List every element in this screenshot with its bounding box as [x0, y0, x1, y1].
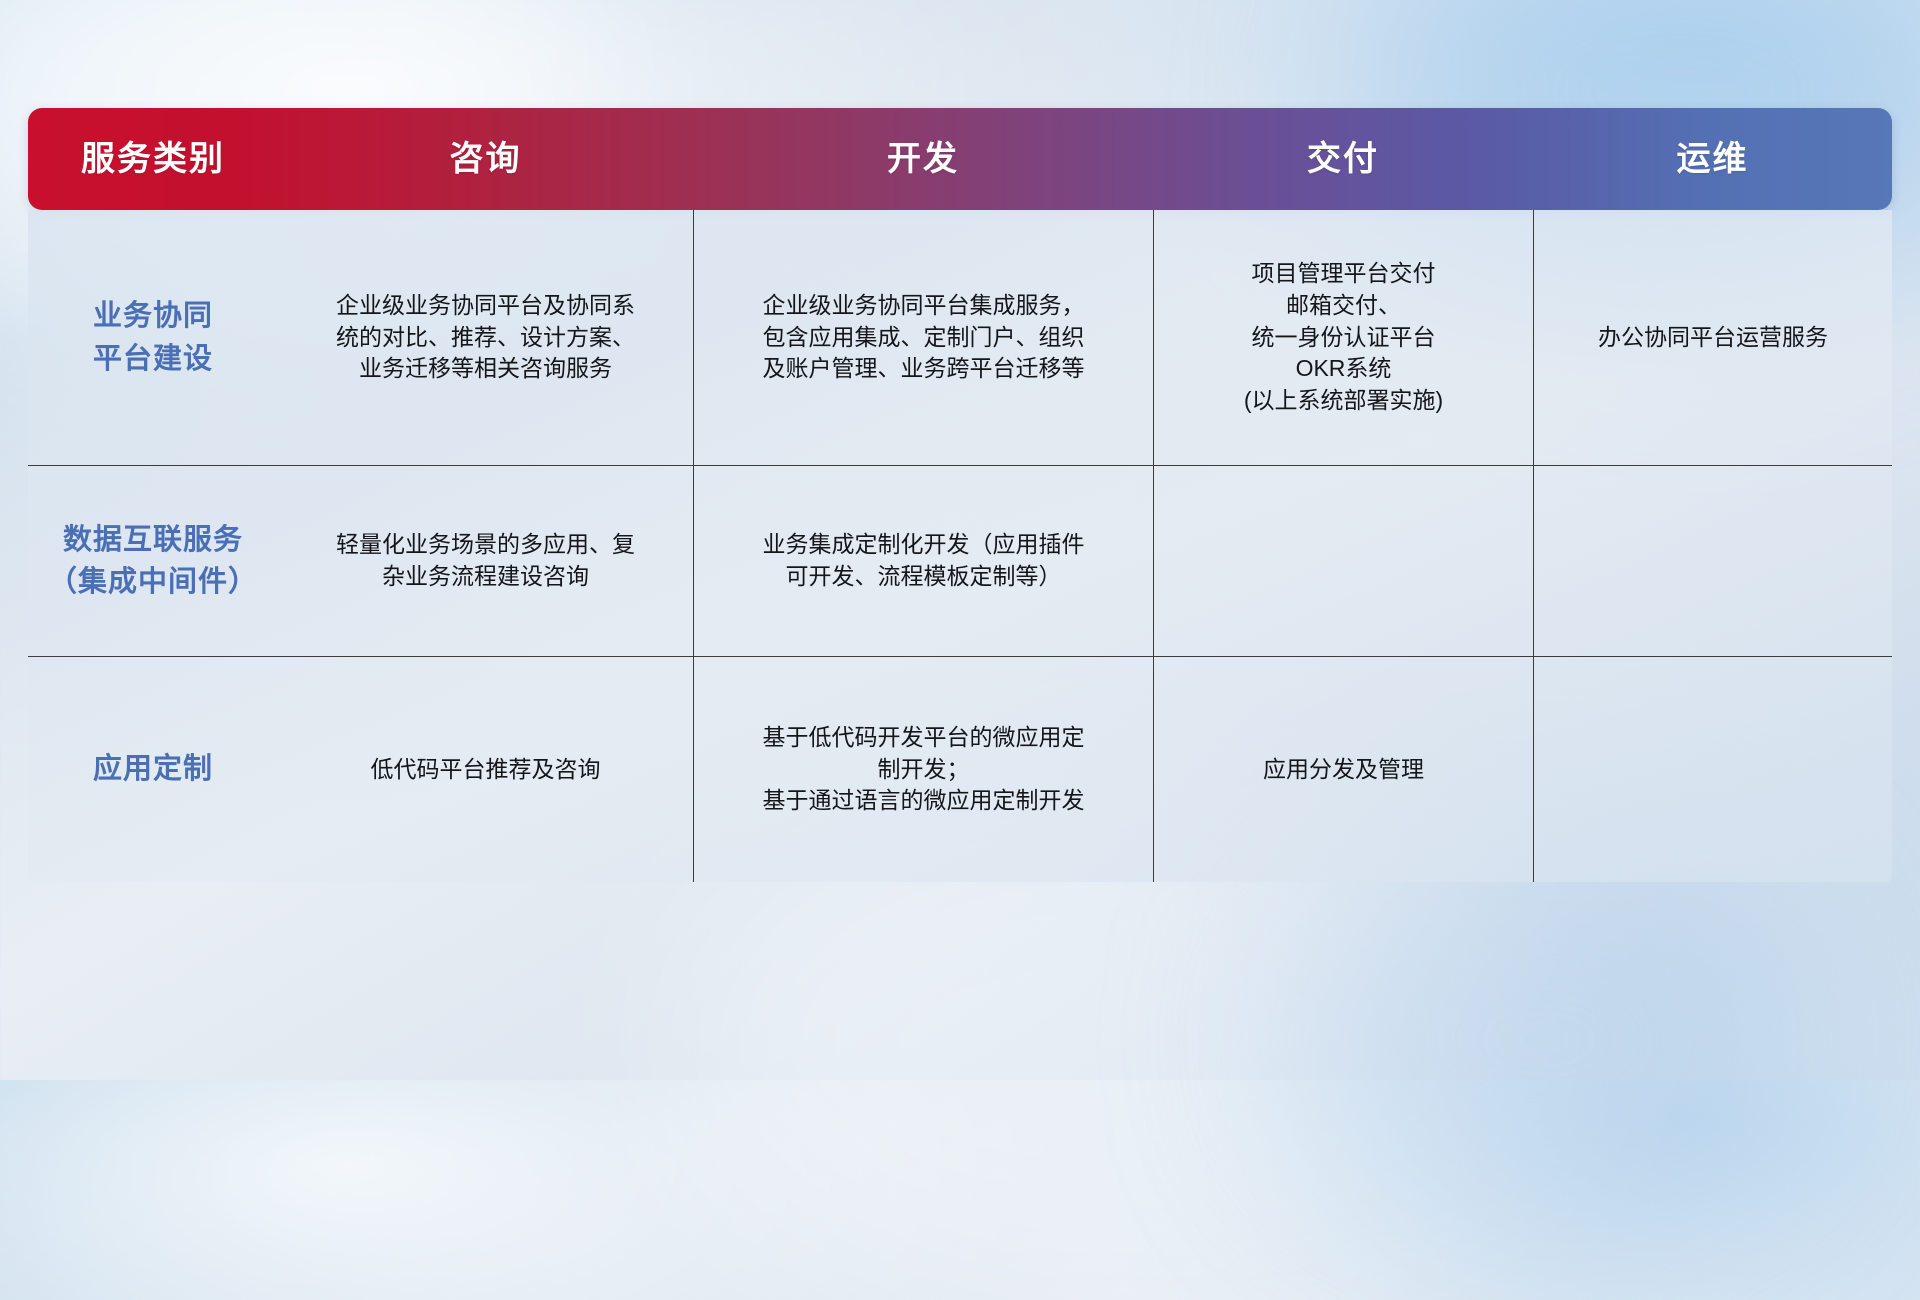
cell-development: 基于低代码开发平台的微应用定 制开发； 基于通过语言的微应用定制开发: [693, 657, 1153, 882]
cell-operations: [1533, 466, 1892, 656]
table-body: 业务协同 平台建设 企业级业务协同平台及协同系 统的对比、推荐、设计方案、 业务…: [28, 210, 1892, 882]
column-header-development: 开发: [693, 142, 1153, 176]
cell-consulting: 轻量化业务场景的多应用、复 杂业务流程建设咨询: [278, 466, 693, 656]
column-header-consulting: 咨询: [278, 142, 693, 176]
background-glow-bottom-right: [1285, 860, 1805, 1220]
service-matrix-table: 服务类别 咨询 开发 交付 运维 业务协同 平台建设 企业级业务协同平台及协同系…: [28, 108, 1892, 780]
table-row: 业务协同 平台建设 企业级业务协同平台及协同系 统的对比、推荐、设计方案、 业务…: [28, 210, 1892, 465]
cell-delivery: 应用分发及管理: [1153, 657, 1533, 882]
cell-delivery: [1153, 466, 1533, 656]
cell-delivery: 项目管理平台交付 邮箱交付、 统一身份认证平台 OKR系统 (以上系统部署实施): [1153, 210, 1533, 465]
row-category-label: 业务协同 平台建设: [28, 210, 278, 465]
cell-operations: [1533, 657, 1892, 882]
column-header-service-category: 服务类别: [28, 142, 278, 176]
cell-consulting: 企业级业务协同平台及协同系 统的对比、推荐、设计方案、 业务迁移等相关咨询服务: [278, 210, 693, 465]
cell-development: 企业级业务协同平台集成服务， 包含应用集成、定制门户、组织 及账户管理、业务跨平…: [693, 210, 1153, 465]
column-header-operations: 运维: [1533, 142, 1892, 176]
cell-operations: 办公协同平台运营服务: [1533, 210, 1892, 465]
row-category-label: 数据互联服务 （集成中间件）: [28, 466, 278, 656]
table-row: 应用定制 低代码平台推荐及咨询 基于低代码开发平台的微应用定 制开发； 基于通过…: [28, 656, 1892, 882]
column-header-delivery: 交付: [1153, 142, 1533, 176]
table-header-row: 服务类别 咨询 开发 交付 运维: [28, 108, 1892, 210]
table-row: 数据互联服务 （集成中间件） 轻量化业务场景的多应用、复 杂业务流程建设咨询 业…: [28, 465, 1892, 656]
cell-consulting: 低代码平台推荐及咨询: [278, 657, 693, 882]
row-category-label: 应用定制: [28, 657, 278, 882]
cell-development: 业务集成定制化开发（应用插件 可开发、流程模板定制等）: [693, 466, 1153, 656]
